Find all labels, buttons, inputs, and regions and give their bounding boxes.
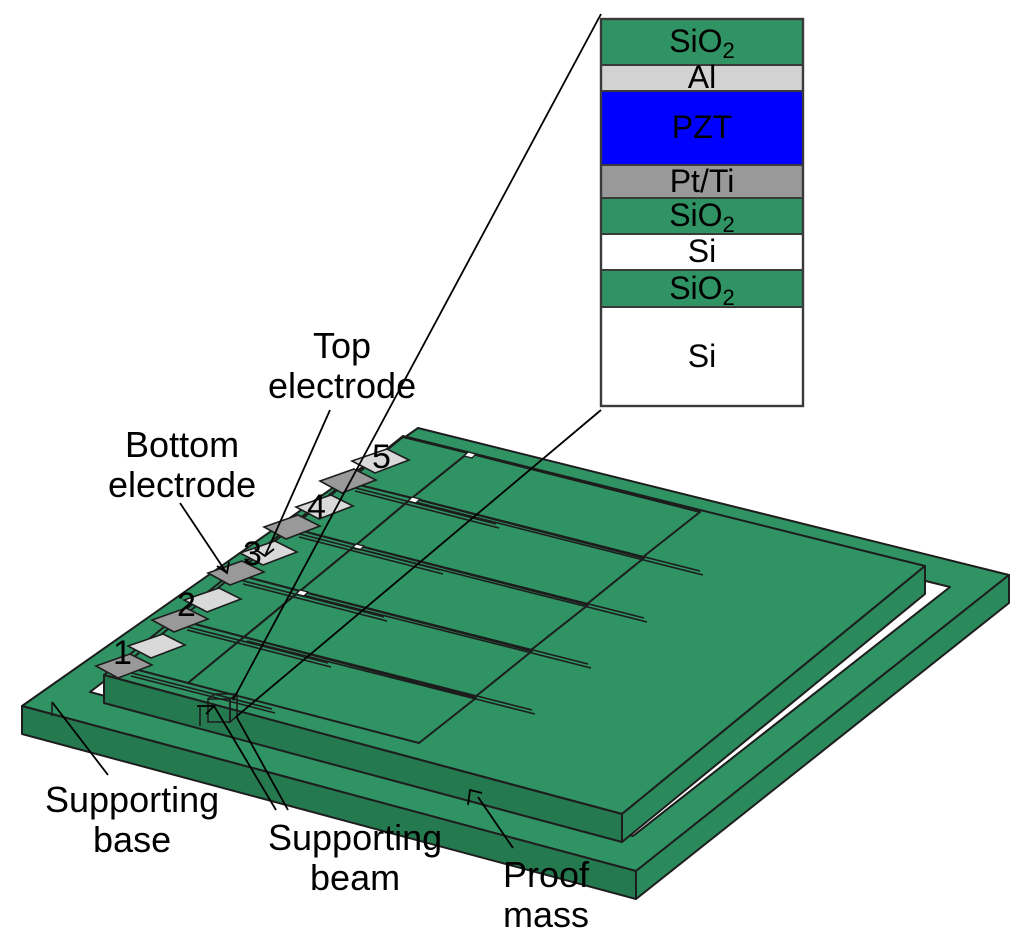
beam-number-1: 1: [113, 636, 132, 670]
beam-number-5: 5: [372, 440, 391, 474]
callout-label-top-electrode: Top electrode: [268, 326, 416, 406]
callout-label-bottom-electrode: Bottom electrode: [108, 425, 256, 505]
callout-label-proof-mass: Proof mass: [503, 855, 589, 935]
beam-number-2: 2: [177, 588, 196, 622]
figure-canvas: .gt{fill:#2f9363;stroke:#1d1d1d;stroke-w…: [0, 0, 1024, 946]
layer-label-pzt-2: PZT: [601, 111, 803, 143]
beam-number-3: 3: [243, 537, 262, 571]
layer-label-si-5: Si: [601, 235, 803, 267]
layer-label-sio-4: SiO2: [601, 199, 803, 231]
layer-label-sio-6: SiO2: [601, 272, 803, 304]
layer-label-si-7: Si: [601, 340, 803, 372]
layer-label-sio-0: SiO2: [601, 25, 803, 57]
callout-label-supporting-beam: Supporting beam: [268, 818, 442, 898]
callout-label-supporting-base: Supporting base: [45, 780, 219, 860]
layer-label-pt-ti-3: Pt/Ti: [601, 165, 803, 197]
layer-label-al-1: Al: [601, 61, 803, 93]
beam-number-4: 4: [307, 490, 326, 524]
